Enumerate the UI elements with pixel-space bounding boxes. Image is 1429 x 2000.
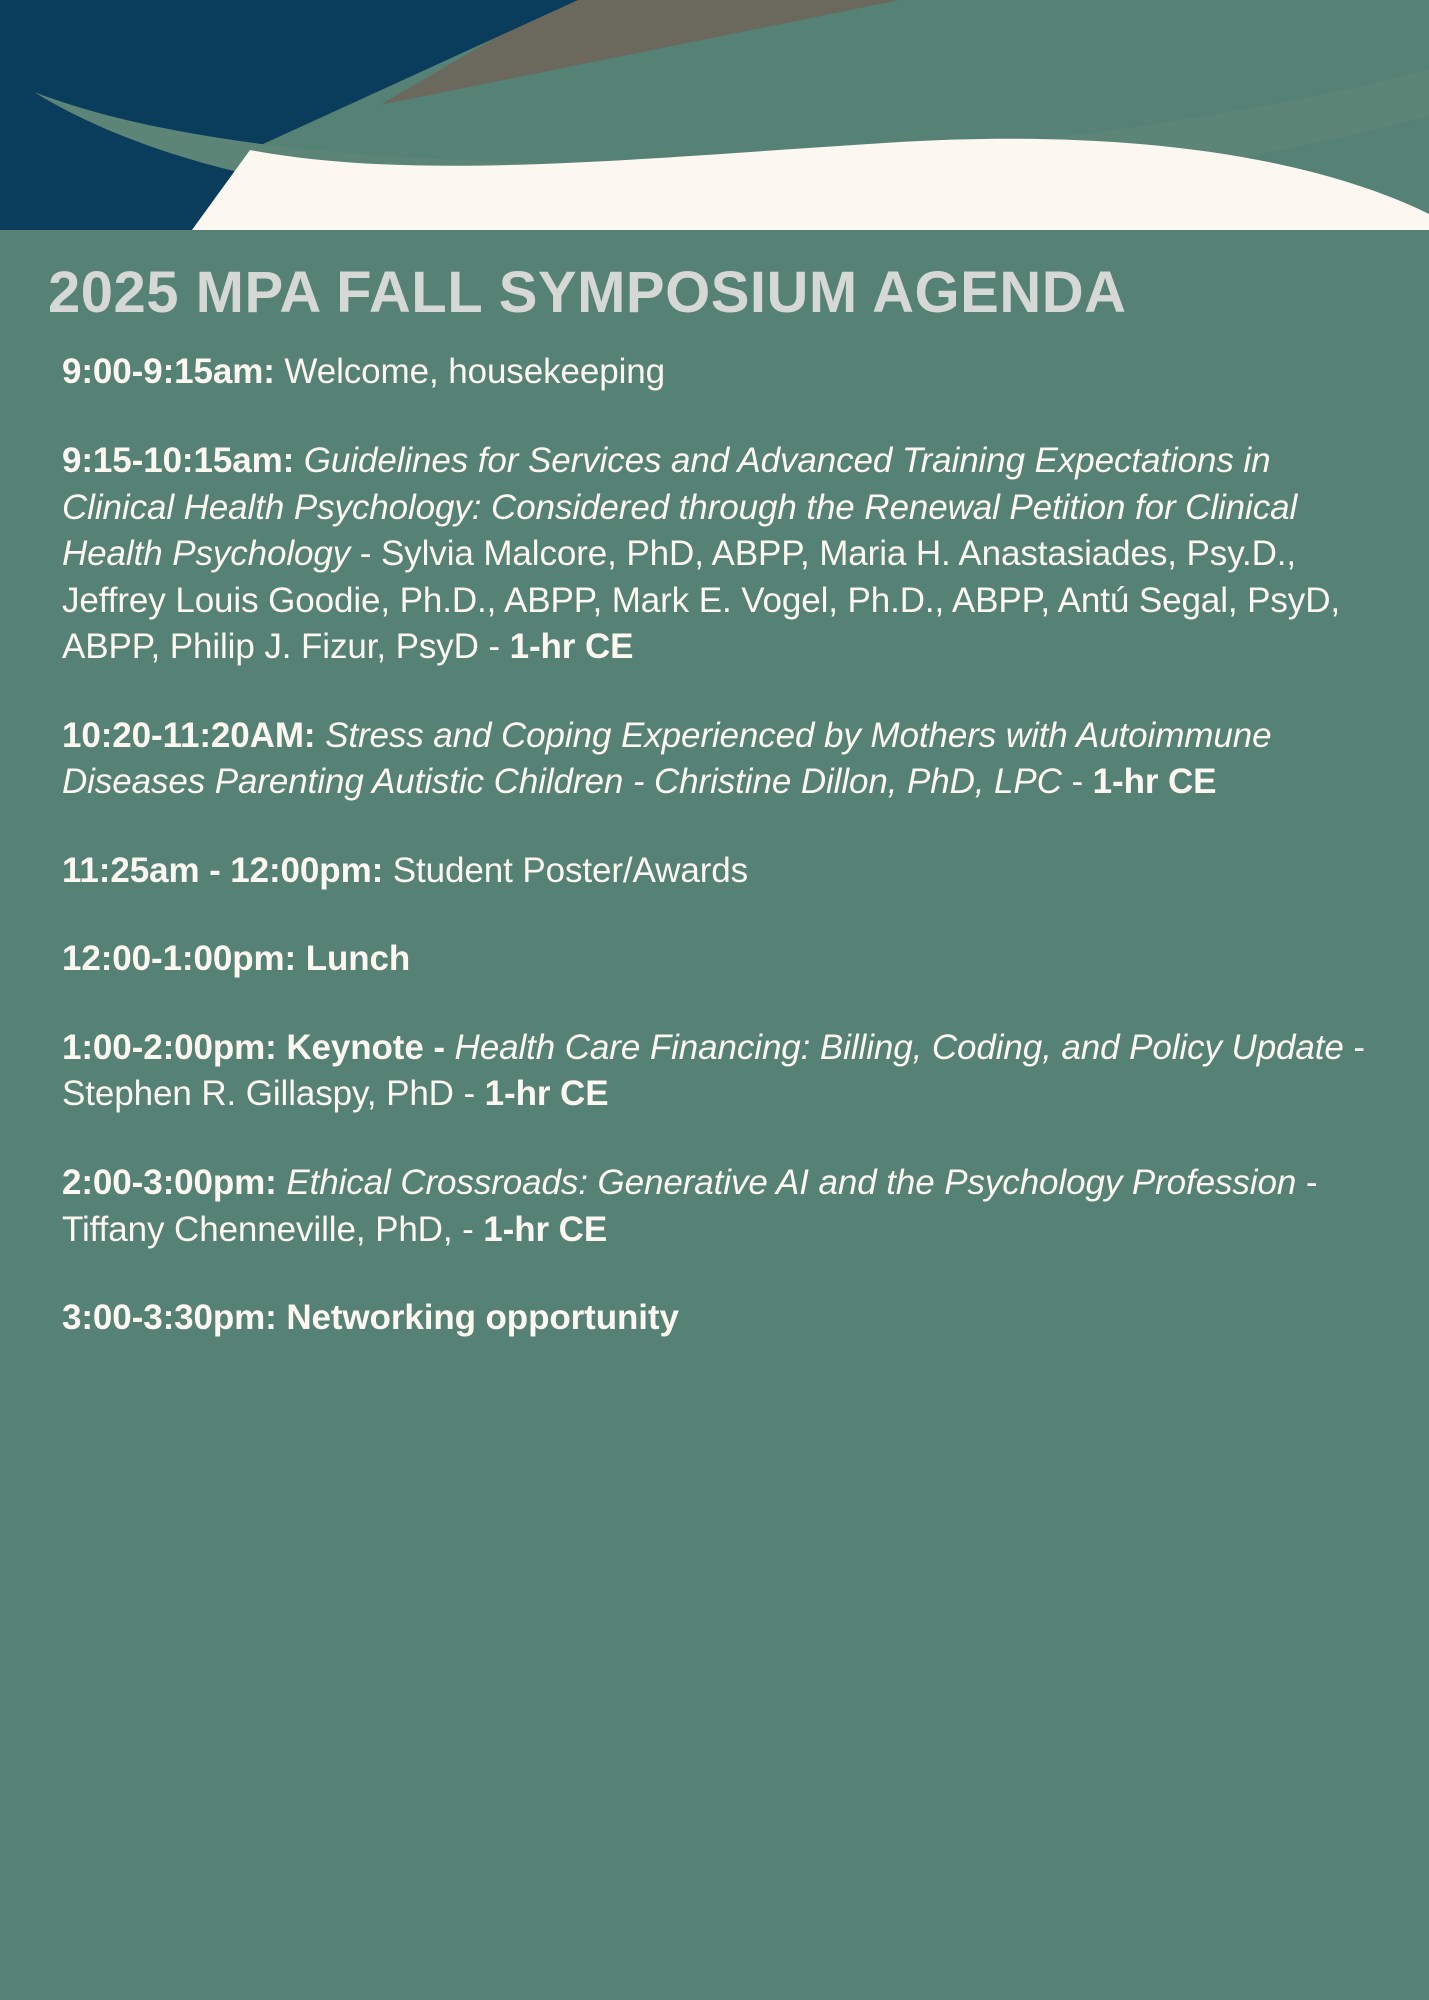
agenda-item-segment: 12:00-1:00pm: Lunch (62, 939, 410, 978)
agenda-item-guidelines-clinical-health-psychology: 9:15-10:15am: Guidelines for Services an… (62, 438, 1381, 671)
agenda-item-segment: Student Poster/Awards (383, 851, 748, 890)
agenda-item-segment: 1-hr CE (483, 1210, 607, 1249)
agenda-item-lunch: 12:00-1:00pm: Lunch (62, 936, 1381, 983)
agenda-page: 2025 MPA Fall Symposium Agenda 9:00-9:15… (0, 230, 1429, 1342)
agenda-item-segment: 9:00-9:15am: (62, 352, 275, 391)
agenda-item-segment: Health Care Financing: Billing, Coding, … (455, 1028, 1344, 1067)
agenda-item-segment: 1-hr CE (485, 1074, 609, 1113)
page-title: 2025 MPA Fall Symposium Agenda (0, 262, 1429, 323)
agenda-item-segment: 1-hr CE (510, 627, 634, 666)
agenda-item-student-poster-awards: 11:25am - 12:00pm: Student Poster/Awards (62, 848, 1381, 895)
agenda-item-segment: 2:00-3:00pm: (62, 1163, 277, 1202)
agenda-item-segment: - (1062, 762, 1093, 801)
agenda-item-segment: 1-hr CE (1093, 762, 1217, 801)
agenda-item-stress-and-coping-mothers: 10:20-11:20AM: Stress and Coping Experie… (62, 713, 1381, 806)
header-wave-graphic (0, 0, 1429, 230)
agenda-item-segment: Ethical Crossroads: Generative AI and th… (277, 1163, 1297, 1202)
agenda-item-welcome: 9:00-9:15am: Welcome, housekeeping (62, 349, 1381, 396)
agenda-item-segment: 1:00-2:00pm: Keynote - (62, 1028, 455, 1067)
agenda-item-ethical-crossroads-generative-ai: 2:00-3:00pm: Ethical Crossroads: Generat… (62, 1160, 1381, 1253)
agenda-item-segment: 10:20-11:20AM: (62, 716, 315, 755)
header-decoration (0, 0, 1429, 230)
agenda-item-segment: 11:25am - 12:00pm: (62, 851, 383, 890)
agenda-item-segment: 3:00-3:30pm: Networking opportunity (62, 1298, 679, 1337)
agenda-item-segment: 9:15-10:15am: (62, 441, 294, 480)
agenda-item-keynote-health-care-financing: 1:00-2:00pm: Keynote - Health Care Finan… (62, 1025, 1381, 1118)
agenda-list: 9:00-9:15am: Welcome, housekeeping9:15-1… (0, 323, 1429, 1341)
agenda-item-segment: Welcome, housekeeping (275, 352, 665, 391)
agenda-item-networking-opportunity: 3:00-3:30pm: Networking opportunity (62, 1295, 1381, 1342)
